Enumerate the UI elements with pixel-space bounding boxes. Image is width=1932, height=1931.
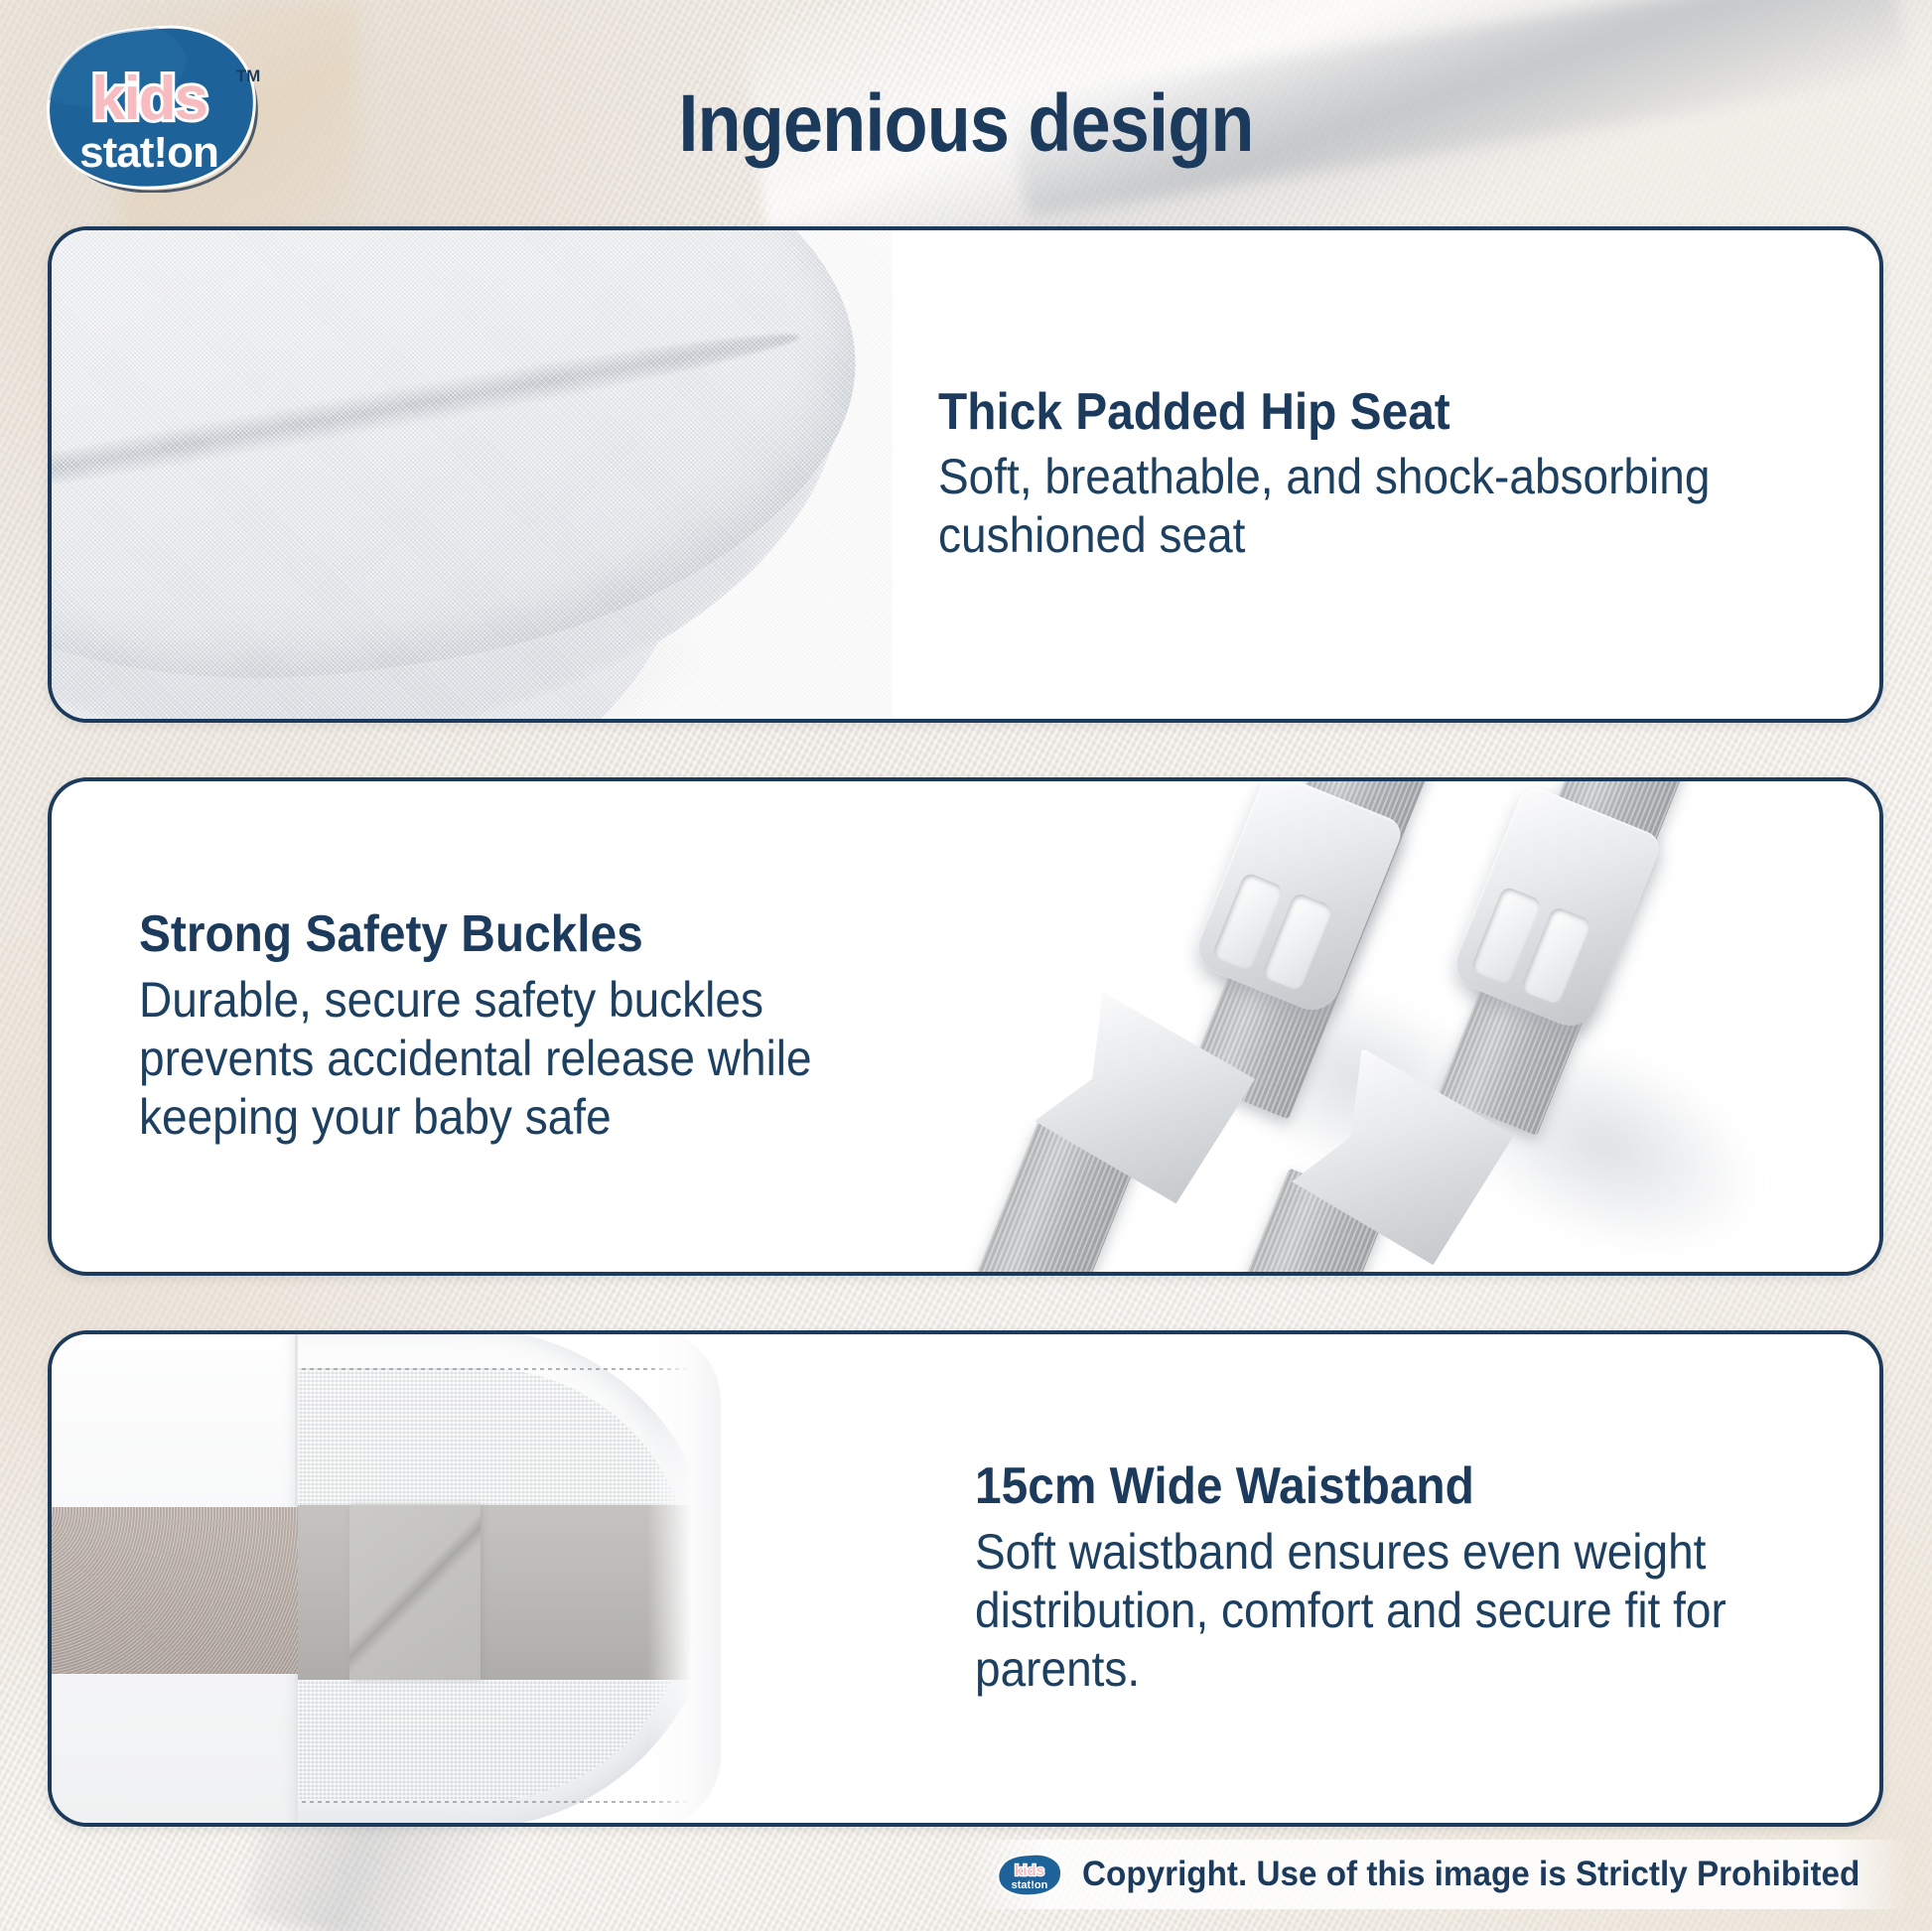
copyright-text: Copyright. Use of this image is Strictly…: [1082, 1855, 1860, 1894]
hip-seat-description: Soft, breathable, and shock-absorbing cu…: [938, 448, 1749, 565]
waistband-rounded-rim: [647, 1334, 721, 1823]
feature-card-hip-seat: Thick Padded Hip Seat Soft, breathable, …: [48, 226, 1883, 723]
feature-card-safety-buckles: Strong Safety Buckles Durable, secure sa…: [48, 777, 1883, 1276]
waistband-title: 15cm Wide Waistband: [975, 1458, 1752, 1514]
waistband-fold-tab: [349, 1505, 481, 1680]
safety-buckles-photo: [929, 781, 1879, 1272]
buckle-female-left: [1189, 781, 1406, 1018]
feature-card-waistband: 15cm Wide Waistband Soft waistband ensur…: [48, 1330, 1883, 1827]
svg-text:stat!on: stat!on: [1012, 1879, 1048, 1891]
wide-waistband-photo: [52, 1334, 929, 1823]
hip-seat-top-surface: [52, 230, 890, 719]
brand-logo: kids stat!on TM: [38, 22, 268, 193]
svg-text:stat!on: stat!on: [79, 128, 218, 177]
safety-buckles-copy: Strong Safety Buckles Durable, secure sa…: [52, 781, 929, 1272]
waistband-stitch-bottom: [294, 1801, 691, 1803]
hip-seat-title: Thick Padded Hip Seat: [938, 384, 1749, 440]
waistband-velcro-patch: [52, 1507, 298, 1674]
brand-mini-logo: kids stat!on: [997, 1853, 1064, 1896]
padded-hip-seat-photo: [52, 230, 893, 719]
safety-buckles-description: Durable, secure safety buckles prevents …: [139, 971, 829, 1147]
svg-text:kids: kids: [91, 65, 207, 133]
hip-seat-copy: Thick Padded Hip Seat Soft, breathable, …: [893, 230, 1879, 719]
waistband-description: Soft waistband ensures even weight distr…: [975, 1523, 1752, 1699]
svg-text:TM: TM: [236, 67, 261, 85]
page-title: Ingenious design: [116, 77, 1816, 171]
waistband-copy: 15cm Wide Waistband Soft waistband ensur…: [929, 1334, 1879, 1823]
safety-buckles-title: Strong Safety Buckles: [139, 906, 829, 962]
copyright-bar: kids stat!on Copyright. Use of this imag…: [971, 1840, 1908, 1909]
waistband-stitch-top: [294, 1368, 691, 1370]
svg-text:kids: kids: [1015, 1862, 1044, 1879]
